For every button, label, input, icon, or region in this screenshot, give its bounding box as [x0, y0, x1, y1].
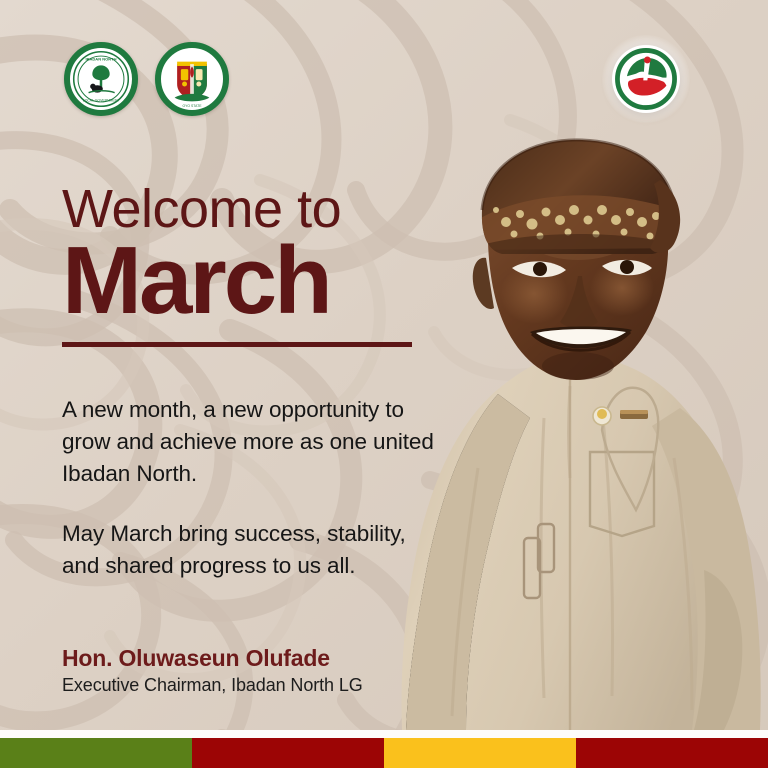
pdp-party-logo	[612, 45, 680, 113]
pdp-logo-artwork	[612, 45, 680, 113]
footer-segment-gold	[384, 738, 576, 768]
oyo-state-coat-of-arms: OYO STATE	[155, 42, 229, 116]
svg-text:IBADAN NORTH: IBADAN NORTH	[85, 56, 116, 61]
garment	[402, 354, 761, 730]
body-paragraph-1: A new month, a new opportunity to grow a…	[62, 394, 442, 490]
body-paragraph-2: May March bring success, stability, and …	[62, 518, 442, 582]
footer-color-bar	[0, 738, 768, 768]
lg-seal-artwork: IBADAN NORTH LOCAL GOVERNMENT	[70, 48, 132, 110]
poster-canvas: IBADAN NORTH LOCAL GOVERNMENT	[0, 0, 768, 768]
headline-block: Welcome to March	[62, 182, 482, 347]
svg-text:OYO STATE: OYO STATE	[183, 104, 203, 108]
signature-title: Executive Chairman, Ibadan North LG	[62, 675, 363, 696]
footer-divider	[0, 730, 768, 738]
logo-group-left: IBADAN NORTH LOCAL GOVERNMENT	[64, 42, 229, 116]
oyo-crest-artwork: OYO STATE	[161, 48, 223, 110]
footer-segment-dark-red	[192, 738, 384, 768]
traditional-cap	[474, 140, 686, 258]
ibadan-north-local-government-seal: IBADAN NORTH LOCAL GOVERNMENT	[64, 42, 138, 116]
svg-text:LOCAL GOVERNMENT: LOCAL GOVERNMENT	[83, 98, 119, 102]
signature-name: Hon. Oluwaseun Olufade	[62, 645, 330, 672]
headline-line-2: March	[62, 232, 482, 330]
headline-underline-rule	[62, 342, 412, 347]
footer-segment-dark-red-2	[576, 738, 768, 768]
footer-segment-green	[0, 738, 192, 768]
